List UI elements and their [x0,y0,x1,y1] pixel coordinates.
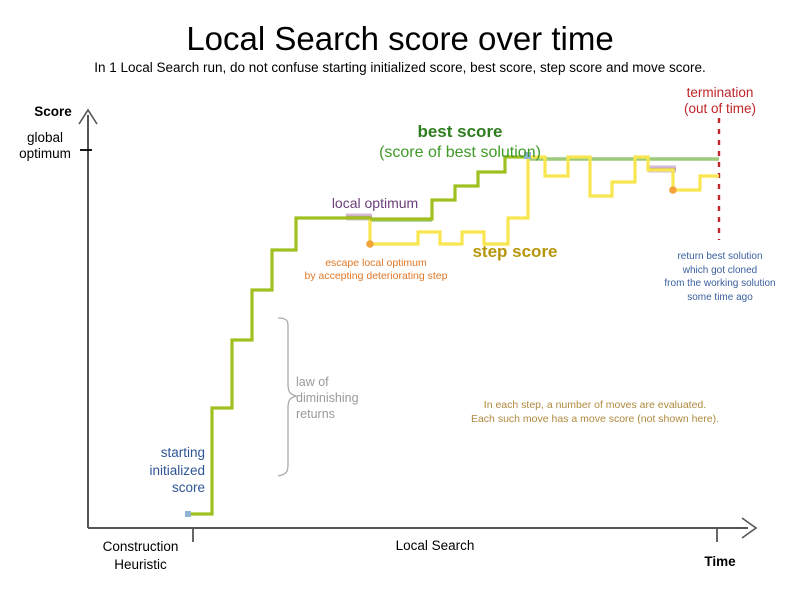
starting-score-dot [185,511,191,517]
diminishing-returns-brace [278,318,296,476]
termination-label: termination (out of time) [630,85,800,117]
y-axis-label: Score [24,104,82,120]
return-best-solution-note: return best solution which got cloned fr… [630,250,800,304]
page-subtitle: In 1 Local Search run, do not confuse st… [0,60,800,76]
escape-dot-1 [366,240,374,248]
x-axis-label: Time [690,554,750,570]
x-axis-phase-construction: Construction Heuristic [78,538,203,574]
diagram-canvas: Local Search score over time In 1 Local … [0,0,800,600]
best-score-sublabel: (score of best solution) [260,144,660,163]
x-axis-phase-local-search: Local Search [340,538,530,554]
local-optimum-label: local optimum [255,195,495,212]
diminishing-returns-label: law of diminishing returns [296,374,406,422]
move-score-note: In each step, a number of moves are eval… [420,398,770,426]
starting-initialized-score-label: starting initialized score [90,444,205,497]
page-title: Local Search score over time [0,20,800,59]
global-optimum-label: global optimum [8,130,82,162]
step-score-label: step score [400,242,630,262]
best-score-label: best score [260,122,660,142]
escape-dot-2 [669,186,677,194]
